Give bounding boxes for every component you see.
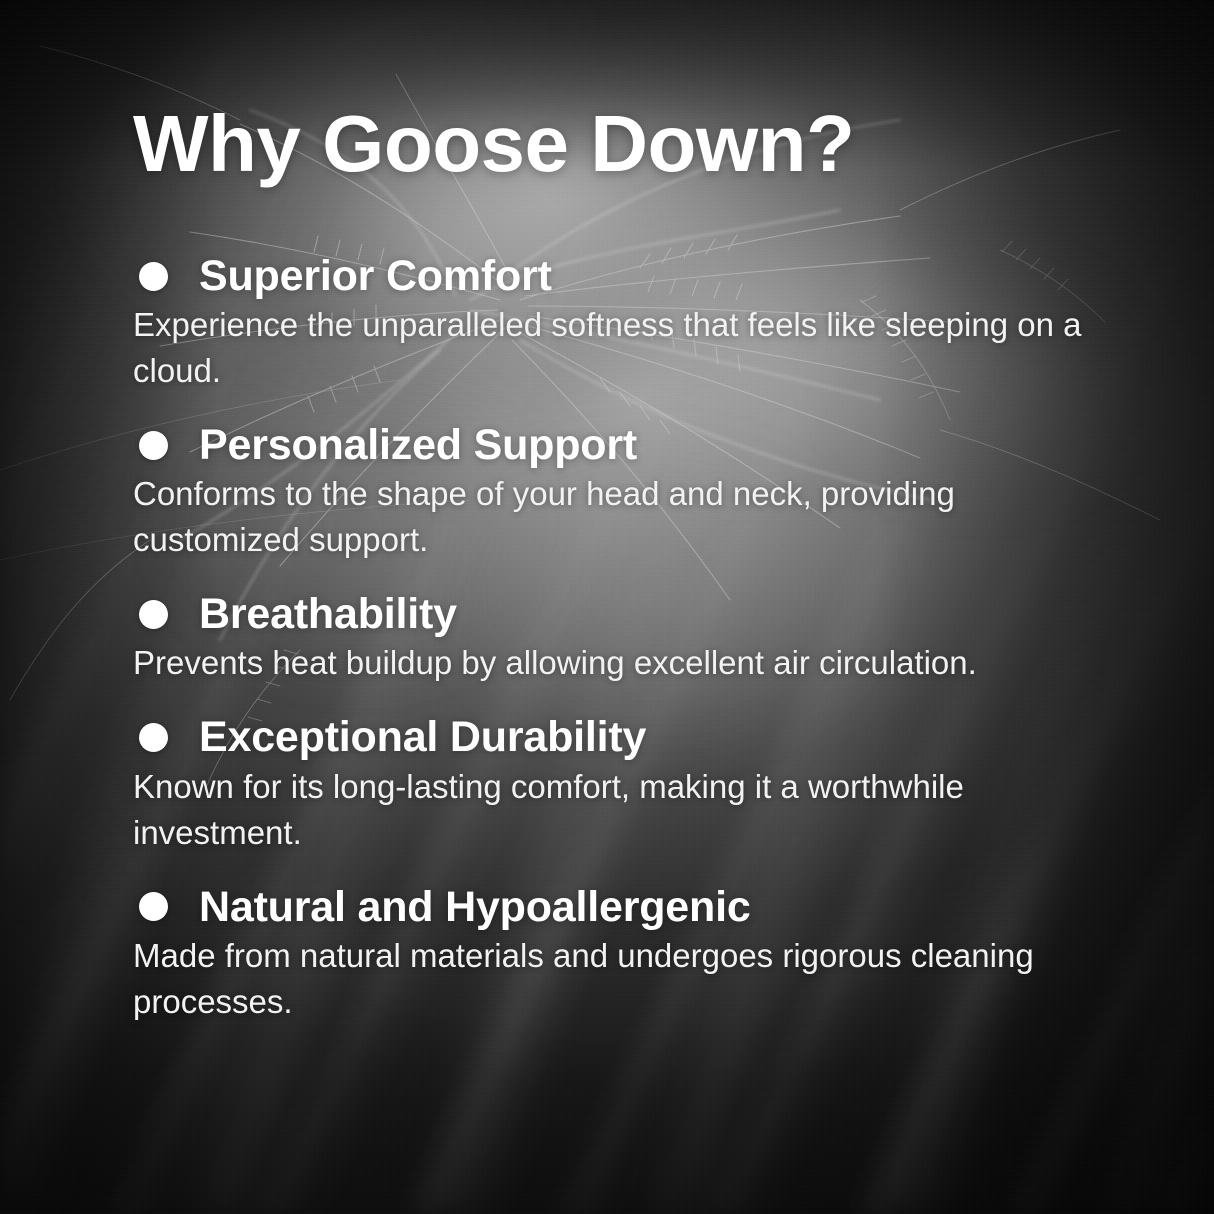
feature-item-natural-and-hypoallergenic: Natural and Hypoallergenic Made from nat… bbox=[133, 883, 1133, 1025]
feature-heading: Superior Comfort bbox=[133, 252, 1133, 300]
feature-description: Conforms to the shape of your head and n… bbox=[133, 471, 1118, 563]
bullet-circle-icon bbox=[139, 600, 168, 629]
feature-title: Breathability bbox=[199, 590, 457, 638]
feature-item-personalized-support: Personalized Support Conforms to the sha… bbox=[133, 421, 1133, 563]
feature-title: Superior Comfort bbox=[199, 252, 552, 300]
bullet-circle-icon bbox=[139, 262, 168, 291]
feature-description: Experience the unparalleled softness tha… bbox=[133, 302, 1118, 394]
feature-title: Personalized Support bbox=[199, 421, 637, 469]
feature-heading: Personalized Support bbox=[133, 421, 1133, 469]
feature-heading: Exceptional Durability bbox=[133, 713, 1133, 761]
feature-description: Prevents heat buildup by allowing excell… bbox=[133, 640, 1118, 686]
poster-canvas: Why Goose Down? Superior Comfort Experie… bbox=[0, 0, 1214, 1214]
feature-description: Known for its long-lasting comfort, maki… bbox=[133, 764, 1118, 856]
feature-title: Natural and Hypoallergenic bbox=[199, 883, 751, 931]
bullet-circle-icon bbox=[139, 723, 168, 752]
feature-title: Exceptional Durability bbox=[199, 713, 646, 761]
bullet-circle-icon bbox=[139, 892, 168, 921]
content-area: Why Goose Down? Superior Comfort Experie… bbox=[0, 0, 1214, 1214]
feature-list: Superior Comfort Experience the unparall… bbox=[133, 252, 1133, 1025]
feature-item-breathability: Breathability Prevents heat buildup by a… bbox=[133, 590, 1133, 686]
feature-item-exceptional-durability: Exceptional Durability Known for its lon… bbox=[133, 713, 1133, 855]
feature-heading: Breathability bbox=[133, 590, 1133, 638]
page-title: Why Goose Down? bbox=[133, 104, 854, 184]
feature-item-superior-comfort: Superior Comfort Experience the unparall… bbox=[133, 252, 1133, 394]
feature-heading: Natural and Hypoallergenic bbox=[133, 883, 1133, 931]
feature-description: Made from natural materials and undergoe… bbox=[133, 933, 1118, 1025]
bullet-circle-icon bbox=[139, 431, 168, 460]
